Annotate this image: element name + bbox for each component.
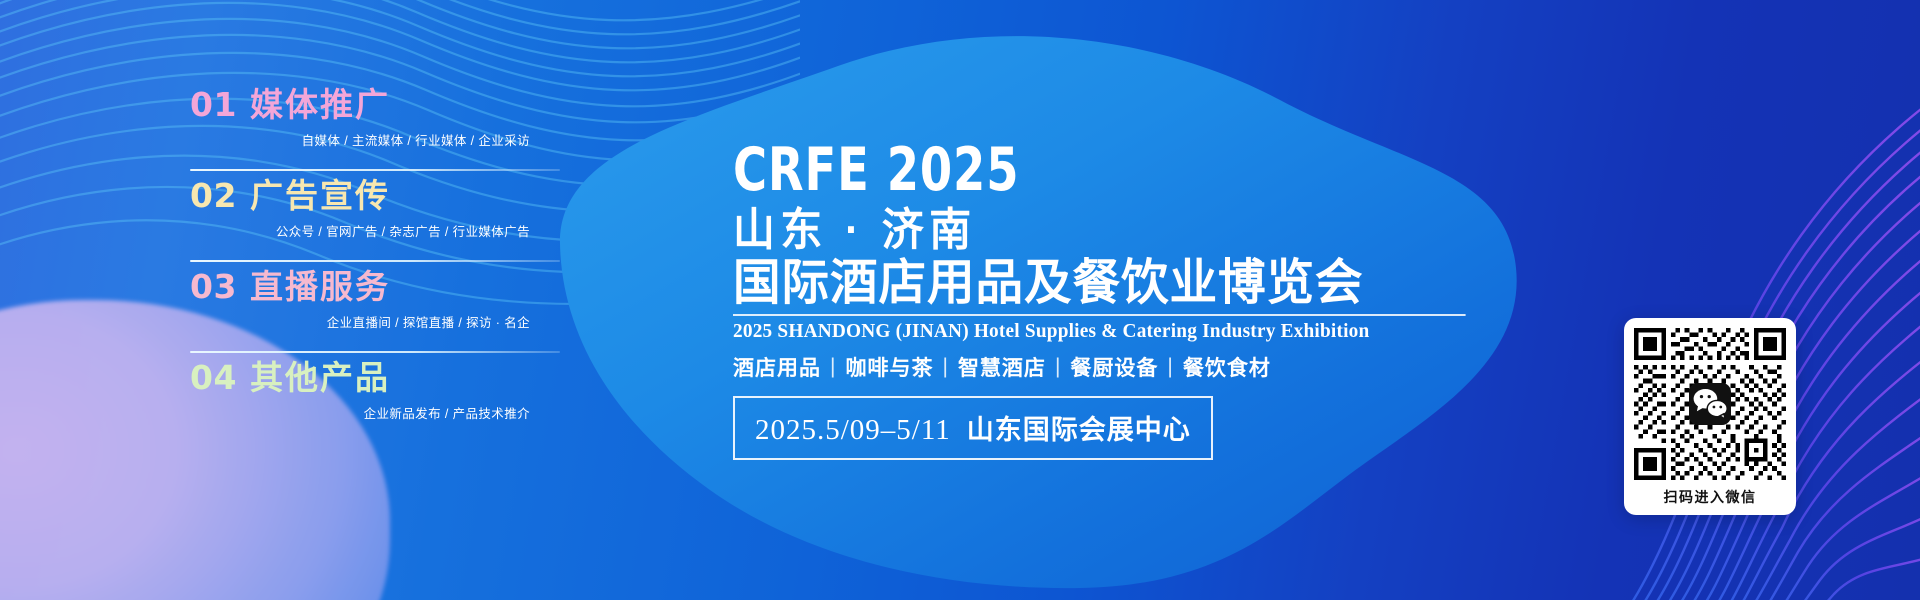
category-separator: | [1167, 355, 1173, 379]
qr-caption: 扫码进入微信 [1634, 487, 1786, 507]
english-title: 2025 SHANDONG (JINAN) Hotel Supplies & C… [733, 314, 1466, 343]
category-item: 餐饮食材 [1183, 352, 1271, 382]
service-heading: 02 广告宣传 [190, 179, 530, 212]
category-separator: | [942, 355, 948, 379]
wechat-icon [1689, 383, 1731, 425]
qr-card[interactable]: 扫码进入微信 [1624, 318, 1796, 515]
category-separator: | [830, 355, 836, 379]
service-heading: 04 其他产品 [190, 361, 530, 394]
service-number: 03 [190, 270, 237, 303]
list-item[interactable]: 03 直播服务 企业直播间 / 探馆直播 / 探访 · 名企 [190, 270, 530, 361]
list-divider [190, 260, 560, 262]
service-number: 04 [190, 361, 237, 394]
category-item: 智慧酒店 [958, 352, 1046, 382]
service-title: 广告宣传 [250, 179, 390, 212]
category-separator: | [1055, 355, 1061, 379]
event-date: 2025.5/09–5/11 [755, 414, 951, 446]
service-heading: 01 媒体推广 [190, 88, 530, 121]
list-item[interactable]: 01 媒体推广 自媒体 / 主流媒体 / 行业媒体 / 企业采访 [190, 88, 530, 179]
service-subtitle: 企业新品发布 / 产品技术推介 [190, 403, 530, 422]
service-number: 02 [190, 179, 237, 212]
headline-block: CRFE 2025 山东 · 济南 国际酒店用品及餐饮业博览会 2025 SHA… [733, 140, 1473, 460]
list-divider [190, 351, 560, 353]
service-title: 媒体推广 [250, 88, 390, 121]
date-venue-box: 2025.5/09–5/11山东国际会展中心 [733, 396, 1213, 460]
service-subtitle: 公众号 / 官网广告 / 杂志广告 / 行业媒体广告 [190, 221, 530, 240]
service-subtitle: 企业直播间 / 探馆直播 / 探访 · 名企 [190, 312, 530, 331]
service-title: 直播服务 [250, 270, 390, 303]
services-list: 01 媒体推广 自媒体 / 主流媒体 / 行业媒体 / 企业采访 02 广告宣传… [190, 88, 530, 452]
list-item[interactable]: 02 广告宣传 公众号 / 官网广告 / 杂志广告 / 行业媒体广告 [190, 179, 530, 270]
service-heading: 03 直播服务 [190, 270, 530, 303]
event-venue: 山东国际会展中心 [967, 415, 1191, 445]
list-divider [190, 169, 560, 171]
service-number: 01 [190, 88, 237, 121]
category-item: 餐厨设备 [1070, 352, 1158, 382]
list-item[interactable]: 04 其他产品 企业新品发布 / 产品技术推介 [190, 361, 530, 452]
banner-root: 01 媒体推广 自媒体 / 主流媒体 / 行业媒体 / 企业采访 02 广告宣传… [0, 0, 1920, 600]
page-title: 国际酒店用品及餐饮业博览会 [733, 258, 1451, 309]
service-subtitle: 自媒体 / 主流媒体 / 行业媒体 / 企业采访 [190, 130, 530, 149]
category-list: 酒店用品 | 咖啡与茶 | 智慧酒店 | 餐厨设备 | 餐饮食材 [733, 352, 1473, 382]
category-item: 酒店用品 [733, 352, 821, 382]
service-title: 其他产品 [250, 361, 390, 394]
city-subtitle: 山东 · 济南 [733, 207, 1421, 252]
qr-code-image[interactable] [1634, 328, 1786, 480]
brand-title: CRFE 2025 [733, 140, 1369, 200]
category-item: 咖啡与茶 [845, 352, 933, 382]
